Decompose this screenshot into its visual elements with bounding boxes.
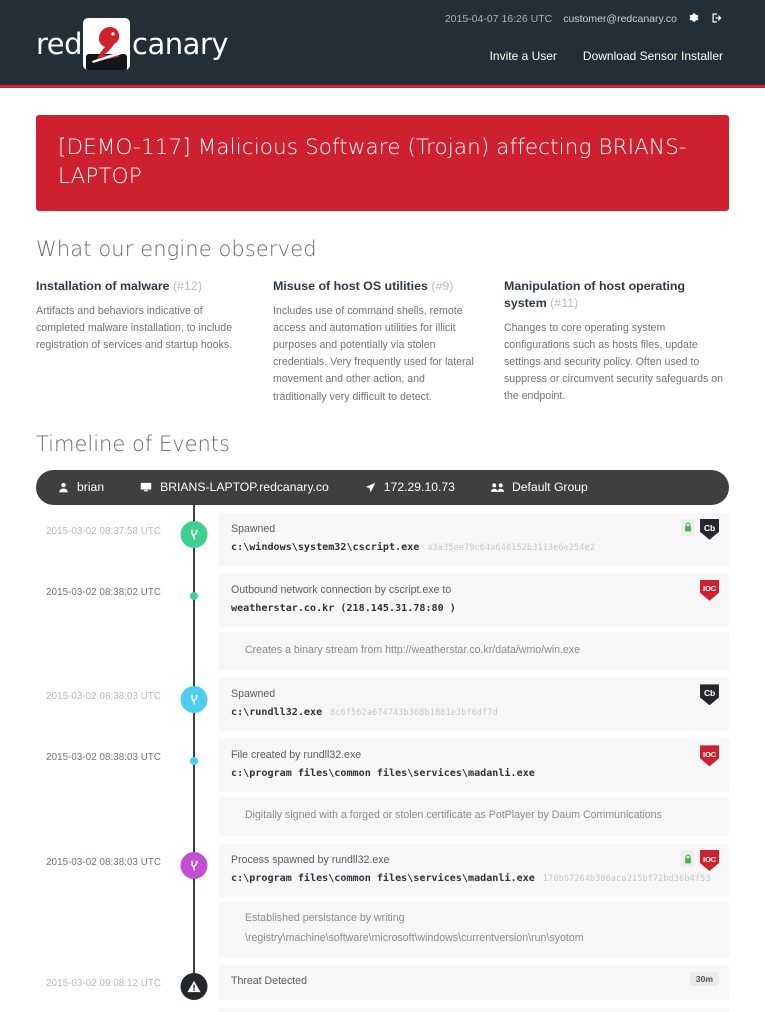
event-timestamp: 2015-03-03 16:02:33 UTC	[36, 1008, 183, 1012]
observed-card-title-text: Installation of malware	[36, 279, 170, 293]
carbon-black-badge: Cb	[700, 519, 719, 540]
process-fork-icon[interactable]	[181, 521, 208, 548]
event-summary: Threat Detected	[231, 974, 717, 990]
event-card[interactable]: Spawned c:\windows\system32\cscript.exea…	[219, 513, 729, 566]
event-sub-detail-line2: \registry\machine\software\microsoft\win…	[245, 929, 717, 949]
event-domain-text: weatherstar.co.kr	[231, 603, 334, 614]
observed-card-count: (#11)	[550, 296, 578, 310]
event-hash: 8c6f562a674743b368b1881e3bf6df7d	[330, 707, 498, 717]
event-card[interactable]: Analyst Confirmed 1d	[219, 1008, 729, 1012]
event-duration-pill: 30m	[690, 972, 719, 986]
brand-logo[interactable]: red canary	[36, 18, 228, 70]
alert-banner: [DEMO-117] Malicious Software (Trojan) a…	[36, 115, 729, 211]
event-path-text: c:\program files\common files\services\m…	[231, 873, 535, 884]
timeline-event[interactable]: 2015-03-02 08:38:02 UTC Outbound network…	[36, 574, 729, 627]
event-path-text: c:\windows\system32\cscript.exe	[231, 542, 419, 553]
event-summary: Process spawned by rundll32.exe	[231, 853, 717, 869]
observed-card-installation-of-malware: Installation of malware (#12) Artifacts …	[36, 278, 273, 406]
timeline-events: 2015-03-02 08:37:58 UTC Spawned c:\windo…	[36, 505, 729, 1012]
event-sub-detail: Established persistance by writing \regi…	[219, 902, 729, 957]
page-content: [DEMO-117] Malicious Software (Trojan) a…	[0, 115, 765, 1012]
lock-icon	[681, 850, 694, 867]
observed-heading: What our engine observed	[36, 237, 729, 261]
event-sub-detail: Creates a binary stream from http://weat…	[219, 632, 729, 671]
event-card[interactable]: Spawned c:\rundll32.exe8c6f562a674743b36…	[219, 678, 729, 731]
event-timestamp: 2015-03-02 09:08:12 UTC	[36, 965, 183, 989]
event-timestamp: 2015-03-02 08:38:03 UTC	[36, 739, 183, 763]
timeline-event[interactable]: 2015-03-02 08:37:58 UTC Spawned c:\windo…	[36, 513, 729, 566]
event-card[interactable]: Threat Detected 30m	[219, 965, 729, 1000]
event-card[interactable]: Outbound network connection by cscript.e…	[219, 574, 729, 627]
event-detail-path: c:\program files\common files\services\m…	[231, 871, 717, 887]
header-timestamp: 2015-04-07 16:26 UTC	[445, 13, 552, 25]
observed-card-title: Installation of malware (#12)	[36, 278, 245, 295]
observed-card-title-text: Manipulation of host operating system	[504, 279, 685, 310]
site-header: red canary 2015-04-07 16:26 UTC customer…	[0, 0, 765, 88]
host-bar-group[interactable]: Default Group	[491, 480, 588, 494]
observed-card-manipulation-of-host-operating-system: Manipulation of host operating system (#…	[504, 278, 729, 406]
event-badges: Cb	[700, 684, 719, 705]
observed-card-body: Artifacts and behaviors indicative of co…	[36, 303, 245, 354]
event-summary: File created by rundll32.exe	[231, 748, 717, 764]
process-fork-icon[interactable]	[181, 852, 208, 879]
observed-card-title-text: Misuse of host OS utilities	[273, 279, 428, 293]
host-bar-ip-label: 172.29.10.73	[384, 480, 455, 494]
observed-grid: Installation of malware (#12) Artifacts …	[36, 278, 729, 406]
host-bar-ip[interactable]: 172.29.10.73	[365, 480, 455, 494]
host-bar-group-label: Default Group	[512, 480, 588, 494]
timeline-event[interactable]: 2015-03-03 16:02:33 UTC Analyst Confirme…	[36, 1008, 729, 1012]
carbon-black-badge: Cb	[700, 684, 719, 705]
observed-card-count: (#12)	[173, 279, 202, 293]
event-badges: IOC	[700, 745, 719, 766]
event-summary: Outbound network connection by cscript.e…	[231, 583, 717, 599]
event-badges: IOC	[700, 580, 719, 601]
monitor-icon	[140, 481, 152, 493]
event-detail-path: weatherstar.co.kr (218.145.31.78:80 )	[231, 601, 717, 617]
observed-card-misuse-of-host-os-utilities: Misuse of host OS utilities (#9) Include…	[273, 278, 504, 406]
timeline-event[interactable]: 2015-03-02 08:38:03 UTC File created by …	[36, 739, 729, 792]
timeline-heading: Timeline of Events	[36, 432, 729, 456]
host-bar-hostname-label: BRIANS-LAPTOP.redcanary.co	[160, 480, 329, 494]
timeline-event[interactable]: 2015-03-02 08:38:03 UTC Spawned c:\rundl…	[36, 678, 729, 731]
ioc-badge: IOC	[700, 850, 719, 871]
event-detail-path: c:\windows\system32\cscript.exea3a35ee79…	[231, 540, 717, 556]
event-card[interactable]: File created by rundll32.exe c:\program …	[219, 739, 729, 792]
event-sub-detail-row: Digitally signed with a forged or stolen…	[36, 797, 729, 836]
timeline-event[interactable]: 2015-03-02 08:38:03 UTC Process spawned …	[36, 844, 729, 897]
event-hash: a3a35ee79c64a640152b3113e6e254e2	[427, 542, 595, 552]
observed-card-title: Misuse of host OS utilities (#9)	[273, 278, 476, 295]
logo-text-canary: canary	[132, 27, 228, 61]
event-sub-detail-line1: Established persistance by writing	[245, 909, 717, 929]
event-sub-detail: Digitally signed with a forged or stolen…	[219, 797, 729, 836]
event-timestamp: 2015-03-02 08:37:58 UTC	[36, 513, 183, 537]
host-bar-user-label: brian	[77, 480, 104, 494]
nav-download-sensor-installer[interactable]: Download Sensor Installer	[583, 49, 723, 63]
canary-bird-icon	[83, 18, 130, 70]
event-hash: 170b67264b306aca215bf72bd36b4f53	[543, 873, 711, 883]
gear-icon[interactable]	[688, 12, 700, 26]
event-sub-detail-row: Creates a binary stream from http://weat…	[36, 632, 729, 671]
event-badges: IOC	[681, 850, 719, 871]
warning-triangle-icon[interactable]	[181, 973, 208, 1000]
location-arrow-icon	[365, 482, 376, 493]
event-path-text: c:\rundll32.exe	[231, 707, 322, 718]
event-timestamp: 2015-03-02 08:38:03 UTC	[36, 678, 183, 702]
ioc-badge: IOC	[700, 580, 719, 601]
timeline-event[interactable]: 2015-03-02 09:08:12 UTC Threat Detected …	[36, 965, 729, 1000]
host-summary-bar: brian BRIANS-LAPTOP.redcanary.co 172.29.…	[36, 470, 729, 505]
users-icon	[491, 482, 504, 493]
event-ip-port: (218.145.31.78:80 )	[340, 603, 455, 614]
observed-card-body: Changes to core operating system configu…	[504, 320, 729, 406]
header-account-email[interactable]: customer@redcanary.co	[563, 13, 677, 25]
process-fork-icon[interactable]	[181, 686, 208, 713]
event-summary: Spawned	[231, 522, 717, 538]
event-summary: Spawned	[231, 687, 717, 703]
logout-icon[interactable]	[711, 12, 723, 26]
event-detail-path: c:\rundll32.exe8c6f562a674743b368b1881e3…	[231, 705, 717, 721]
lock-icon	[681, 519, 694, 536]
ioc-badge: IOC	[700, 745, 719, 766]
event-card[interactable]: Process spawned by rundll32.exe c:\progr…	[219, 844, 729, 897]
nav-invite-a-user[interactable]: Invite a User	[490, 49, 557, 63]
event-sub-detail-row: Established persistance by writing \regi…	[36, 902, 729, 957]
file-dot-icon[interactable]	[190, 757, 198, 765]
observed-card-title: Manipulation of host operating system (#…	[504, 278, 729, 311]
logo-text-red: red	[36, 27, 82, 61]
header-account-bar: 2015-04-07 16:26 UTC customer@redcanary.…	[445, 12, 723, 26]
host-bar-hostname[interactable]: BRIANS-LAPTOP.redcanary.co	[140, 480, 329, 494]
network-dot-icon[interactable]	[190, 592, 198, 600]
event-badges: Cb	[681, 519, 719, 540]
host-bar-user[interactable]: brian	[58, 480, 104, 494]
bird-glyph	[86, 54, 127, 67]
observed-card-body: Includes use of command shells, remote a…	[273, 303, 476, 406]
observed-card-count: (#9)	[431, 279, 453, 293]
event-timestamp: 2015-03-02 08:38:03 UTC	[36, 844, 183, 868]
header-nav: Invite a User Download Sensor Installer	[490, 49, 723, 63]
user-icon	[58, 482, 69, 493]
event-detail-path: c:\program files\common files\services\m…	[231, 766, 717, 782]
event-timestamp: 2015-03-02 08:38:02 UTC	[36, 574, 183, 598]
